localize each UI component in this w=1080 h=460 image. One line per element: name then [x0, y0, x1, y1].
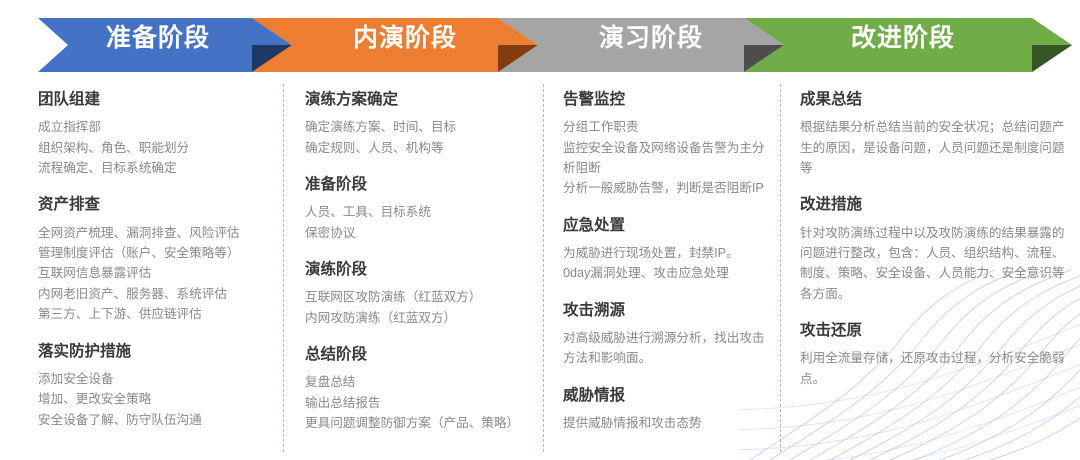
detail-block: 团队组建 成立指挥部 组织架构、角色、职能划分 流程确定、目标系统确定 [38, 88, 269, 178]
block-title: 攻击还原 [800, 319, 1066, 342]
block-line: 对高级威胁进行溯源分析，找出攻击方法和影响面。 [563, 328, 766, 369]
block-line: 根据结果分析总结当前的安全状况；总结问题产生的原因，是设备问题，人员问题还是制度… [800, 117, 1066, 178]
block-line: 保密协议 [305, 223, 529, 243]
detail-block: 攻击溯源 对高级威胁进行溯源分析，找出攻击方法和影响面。 [563, 299, 766, 369]
block-line: 为威胁进行现场处置，封禁IP。 [563, 243, 766, 263]
detail-block: 演练方案确定 确定演练方案、时间、目标 确定规则、人员、机构等 [305, 88, 529, 158]
block-title: 告警监控 [563, 88, 766, 111]
block-title: 总结阶段 [305, 343, 529, 366]
stage-label-0: 准备阶段 [38, 0, 278, 72]
detail-block: 成果总结 根据结果分析总结当前的安全状况；总结问题产生的原因，是设备问题，人员问… [800, 88, 1066, 178]
block-title: 演练阶段 [305, 258, 529, 281]
detail-block: 攻击还原 利用全流量存储，还原攻击过程，分析安全脆弱点。 [800, 319, 1066, 389]
block-title: 落实防护措施 [38, 340, 269, 363]
block-line: 确定规则、人员、机构等 [305, 138, 529, 158]
block-line: 监控安全设备及网络设备告警为主分析阻断 [563, 138, 766, 179]
block-line: 添加安全设备 [38, 369, 269, 389]
block-title: 资产排查 [38, 193, 269, 216]
block-line: 全网资产梳理、漏洞排查、风险评估 [38, 223, 269, 243]
stage-label-2: 演习阶段 [532, 0, 770, 72]
block-line: 管理制度评估（账户、安全策略等） [38, 243, 269, 263]
detail-block: 总结阶段 复盘总结 输出总结报告 更具问题调整防御方案（产品、策略） [305, 343, 529, 433]
block-line: 分析一般威胁告警，判断是否阻断IP [563, 178, 766, 198]
block-title: 应急处置 [563, 214, 766, 237]
stage-column-preparation: 团队组建 成立指挥部 组织架构、角色、职能划分 流程确定、目标系统确定 资产排查… [0, 72, 283, 460]
block-title: 攻击溯源 [563, 299, 766, 322]
block-line: 增加、更改安全策略 [38, 389, 269, 409]
detail-block: 威胁情报 提供威胁情报和攻击态势 [563, 384, 766, 434]
stage-banner: 准备阶段 内演阶段 演习阶段 改进阶段 [0, 0, 1080, 72]
block-line: 输出总结报告 [305, 393, 529, 413]
detail-block: 演练阶段 互联网区攻防演练（红蓝双方） 内网攻防演练（红蓝双方） [305, 258, 529, 328]
block-line: 流程确定、目标系统确定 [38, 158, 269, 178]
block-line: 互联网区攻防演练（红蓝双方） [305, 287, 529, 307]
block-title: 成果总结 [800, 88, 1066, 111]
block-line: 确定演练方案、时间、目标 [305, 117, 529, 137]
block-line: 提供威胁情报和攻击态势 [563, 413, 766, 433]
column-divider [780, 84, 781, 452]
block-line: 内网老旧资产、服务器、系统评估 [38, 284, 269, 304]
block-title: 演练方案确定 [305, 88, 529, 111]
stage-column-improvement: 成果总结 根据结果分析总结当前的安全状况；总结问题产生的原因，是设备问题，人员问… [780, 72, 1080, 460]
block-line: 复盘总结 [305, 372, 529, 392]
detail-block: 资产排查 全网资产梳理、漏洞排查、风险评估 管理制度评估（账户、安全策略等） 互… [38, 193, 269, 324]
stage-detail-columns: 团队组建 成立指挥部 组织架构、角色、职能划分 流程确定、目标系统确定 资产排查… [0, 72, 1080, 460]
block-line: 互联网信息暴露评估 [38, 263, 269, 283]
block-title: 改进措施 [800, 193, 1066, 216]
block-line: 更具问题调整防御方案（产品、策略） [305, 413, 529, 433]
block-line: 分组工作职责 [563, 117, 766, 137]
column-divider [283, 84, 284, 452]
block-line: 安全设备了解、防守队伍沟通 [38, 410, 269, 430]
stage-label-3: 改进阶段 [778, 0, 1028, 72]
block-line: 针对攻防演练过程中以及攻防演练的结果暴露的问题进行整改，包含：人员、组织结构、流… [800, 223, 1066, 305]
detail-block: 改进措施 针对攻防演练过程中以及攻防演练的结果暴露的问题进行整改，包含：人员、组… [800, 193, 1066, 304]
block-line: 组织架构、角色、职能划分 [38, 138, 269, 158]
stage-arrow-3-shadow [1032, 45, 1072, 72]
block-title: 准备阶段 [305, 173, 529, 196]
block-line: 第三方、上下游、供应链评估 [38, 304, 269, 324]
block-line: 利用全流量存储，还原攻击过程，分析安全脆弱点。 [800, 348, 1066, 389]
stage-label-1: 内演阶段 [286, 0, 524, 72]
detail-block: 应急处置 为威胁进行现场处置，封禁IP。 0day漏洞处理、攻击应急处理 [563, 214, 766, 284]
column-divider [543, 84, 544, 452]
detail-block: 落实防护措施 添加安全设备 增加、更改安全策略 安全设备了解、防守队伍沟通 [38, 340, 269, 430]
block-line: 内网攻防演练（红蓝双方） [305, 308, 529, 328]
block-title: 团队组建 [38, 88, 269, 111]
detail-block: 告警监控 分组工作职责 监控安全设备及网络设备告警为主分析阻断 分析一般威胁告警… [563, 88, 766, 199]
block-line: 成立指挥部 [38, 117, 269, 137]
detail-block: 准备阶段 人员、工具、目标系统 保密协议 [305, 173, 529, 243]
stage-column-exercise: 告警监控 分组工作职责 监控安全设备及网络设备告警为主分析阻断 分析一般威胁告警… [543, 72, 780, 460]
stage-column-internal-drill: 演练方案确定 确定演练方案、时间、目标 确定规则、人员、机构等 准备阶段 人员、… [283, 72, 543, 460]
block-line: 0day漏洞处理、攻击应急处理 [563, 263, 766, 283]
block-title: 威胁情报 [563, 384, 766, 407]
block-line: 人员、工具、目标系统 [305, 202, 529, 222]
